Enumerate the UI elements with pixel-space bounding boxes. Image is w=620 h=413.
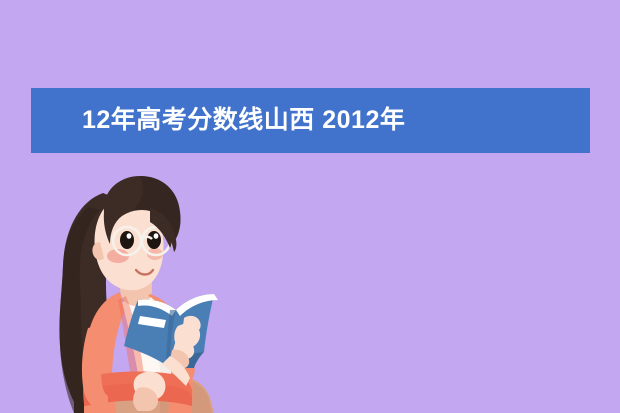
page-title: 12年高考分数线山西 2012年 [31, 108, 405, 133]
page-root: 12年高考分数线山西 2012年 [0, 0, 620, 413]
woman-reading-book-illustration [0, 150, 310, 413]
title-banner: 12年高考分数线山西 2012年 [31, 88, 590, 153]
